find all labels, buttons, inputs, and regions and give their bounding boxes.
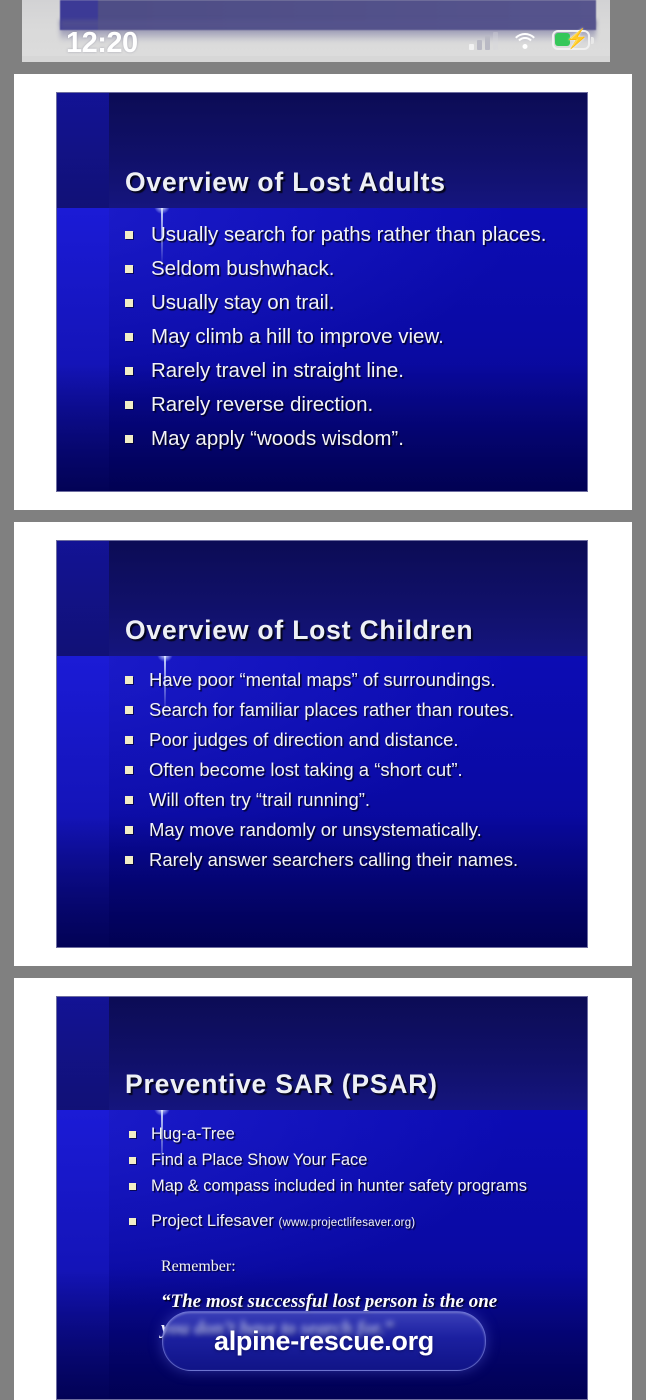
bullet-square-icon [125, 231, 133, 239]
bullet-square-icon [125, 333, 133, 341]
bullet-square-icon [125, 676, 133, 684]
bullet-square-icon [125, 826, 133, 834]
bullet-text: Usually stay on trail. [151, 291, 334, 314]
bullet-text: Rarely reverse direction. [151, 393, 373, 416]
status-bar-gutter-left [0, 0, 22, 62]
slide-1-header: Overview of Lost Adults [57, 93, 587, 208]
list-item: Rarely answer searchers calling their na… [125, 848, 587, 871]
bullet-square-icon [129, 1157, 136, 1164]
bullet-square-icon [125, 856, 133, 864]
bullet-text: Search for familiar places rather than r… [149, 699, 514, 720]
list-item: Search for familiar places rather than r… [125, 698, 587, 721]
site-name-label: alpine-rescue.org [214, 1326, 434, 1357]
slide-card-1[interactable]: Overview of Lost Adults Usually search f… [14, 74, 632, 510]
bullet-square-icon [125, 265, 133, 273]
bullet-text: Project Lifesaver [151, 1212, 274, 1230]
wifi-icon [512, 32, 538, 50]
bullet-text: Hug-a-Tree [151, 1125, 235, 1143]
list-item: Often become lost taking a “short cut”. [125, 758, 587, 781]
list-item: Map & compass included in hunter safety … [129, 1176, 587, 1197]
slide-2-header: Overview of Lost Children [57, 541, 587, 656]
list-item: Project Lifesaver (www.projectlifesaver.… [129, 1211, 587, 1234]
slide-1-title: Overview of Lost Adults [125, 167, 577, 198]
list-item: Usually search for paths rather than pla… [125, 222, 587, 247]
slide-2-body-ribbon [57, 656, 109, 947]
bullet-text: Map & compass included in hunter safety … [151, 1177, 527, 1195]
bullet-square-icon [129, 1131, 136, 1138]
bullet-text: Will often try “trail running”. [149, 789, 370, 810]
slide-3-bullet-list: Hug-a-Tree Find a Place Show Your Face M… [129, 1124, 587, 1234]
status-bar-clock: 12:20 [66, 27, 138, 60]
slide-1-header-ribbon [57, 93, 109, 208]
bullet-text: May move randomly or unsystematically. [149, 819, 482, 840]
list-item: Rarely travel in straight line. [125, 358, 587, 383]
slide-2-body: Have poor “mental maps” of surroundings.… [57, 656, 587, 947]
list-item: May move randomly or unsystematically. [125, 818, 587, 841]
slide-3-body-ribbon [57, 1110, 109, 1399]
list-item: Will often try “trail running”. [125, 788, 587, 811]
bullet-text: Find a Place Show Your Face [151, 1151, 367, 1169]
cellular-signal-icon [469, 32, 498, 50]
slide-card-2[interactable]: Overview of Lost Children Have poor “men… [14, 522, 632, 966]
battery-charging-icon: ⚡ [552, 30, 594, 50]
bullet-sub-url[interactable]: (www.projectlifesaver.org) [278, 1217, 415, 1229]
list-item: Rarely reverse direction. [125, 392, 587, 417]
bullet-text: Often become lost taking a “short cut”. [149, 759, 463, 780]
list-item: May climb a hill to improve view. [125, 324, 587, 349]
list-item: Hug-a-Tree [129, 1124, 587, 1145]
list-item: May apply “woods wisdom”. [125, 426, 587, 451]
status-bar: 12:20 ⚡ [0, 0, 646, 62]
bullet-square-icon [129, 1218, 136, 1225]
bullet-square-icon [125, 401, 133, 409]
bullet-text: May climb a hill to improve view. [151, 325, 444, 348]
bullet-square-icon [125, 367, 133, 375]
bullet-square-icon [125, 435, 133, 443]
site-name-pill-overlay[interactable]: alpine-rescue.org [162, 1311, 486, 1371]
slide-1-body-ribbon [57, 208, 109, 491]
slide-2-title: Overview of Lost Children [125, 615, 577, 646]
bullet-square-icon [125, 706, 133, 714]
slide-2-header-ribbon [57, 541, 109, 656]
bullet-text: Rarely travel in straight line. [151, 359, 404, 382]
bullet-text: Rarely answer searchers calling their na… [149, 849, 518, 870]
bullet-text: Seldom bushwhack. [151, 257, 334, 280]
status-bar-gutter-right [610, 0, 646, 62]
bullet-square-icon [125, 766, 133, 774]
list-item: Poor judges of direction and distance. [125, 728, 587, 751]
presentation-slide-1[interactable]: Overview of Lost Adults Usually search f… [56, 92, 588, 492]
bullet-square-icon [125, 299, 133, 307]
slide-3-title: Preventive SAR (PSAR) [125, 1069, 577, 1100]
list-item: Have poor “mental maps” of surroundings. [125, 668, 587, 691]
bullet-text: May apply “woods wisdom”. [151, 427, 404, 450]
slide-1-body: Usually search for paths rather than pla… [57, 208, 587, 491]
slide-1-bullet-list: Usually search for paths rather than pla… [125, 222, 587, 451]
remember-label: Remember: [161, 1258, 587, 1276]
status-bar-icons: ⚡ [469, 30, 594, 50]
bullet-text: Usually search for paths rather than pla… [151, 223, 546, 246]
slide-3-header: Preventive SAR (PSAR) [57, 997, 587, 1110]
list-item: Find a Place Show Your Face [129, 1150, 587, 1171]
bullet-text: Poor judges of direction and distance. [149, 729, 459, 750]
bullet-square-icon [125, 736, 133, 744]
slide-3-header-ribbon [57, 997, 109, 1110]
list-item: Usually stay on trail. [125, 290, 587, 315]
list-item: Seldom bushwhack. [125, 256, 587, 281]
slide-2-bullet-list: Have poor “mental maps” of surroundings.… [125, 668, 587, 871]
bullet-square-icon [129, 1183, 136, 1190]
bullet-square-icon [125, 796, 133, 804]
bullet-text: Have poor “mental maps” of surroundings. [149, 669, 496, 690]
presentation-slide-2[interactable]: Overview of Lost Children Have poor “men… [56, 540, 588, 948]
